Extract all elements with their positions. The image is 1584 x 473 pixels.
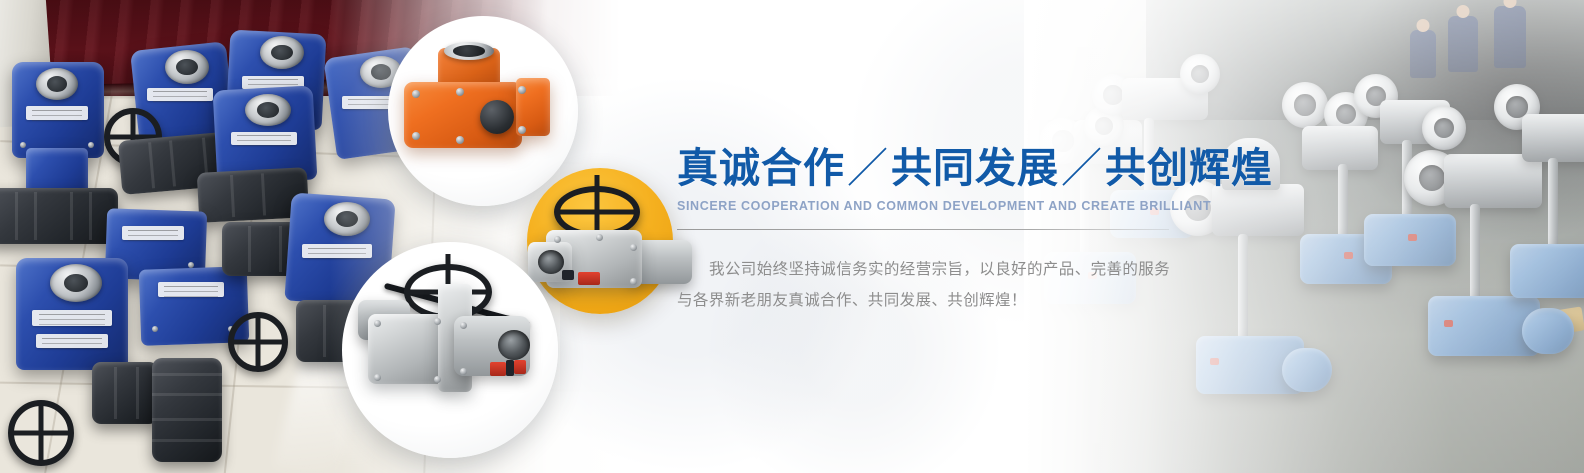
headline-part-2: 共同发展 (891, 145, 1059, 191)
orange-quarter-turn-actuator (388, 16, 578, 206)
headline-separator-1: ／ (845, 145, 891, 191)
banner-copy-block: 真诚合作／共同发展／共创辉煌 SINCERE COOPERATION AND C… (677, 146, 1197, 316)
pvc-ball-valve (92, 362, 158, 424)
headline-part-1: 真诚合作 (677, 145, 845, 191)
handwheel (228, 312, 288, 372)
headline-separator-2: ／ (1059, 145, 1105, 191)
inset-orange-actuator (388, 16, 578, 206)
body-copy-line-2: 与各界新老朋友真诚合作、共同发展、共创辉煌！ (677, 285, 1197, 316)
pvc-union-valve (152, 358, 222, 462)
handwheel (8, 400, 74, 466)
divider-rule (677, 229, 1169, 230)
subheadline: SINCERE COOPERATION AND COMMON DEVELOPME… (677, 199, 1197, 213)
gray-multiturn-actuator (342, 242, 558, 458)
promotional-banner: 真诚合作／共同发展／共创辉煌 SINCERE COOPERATION AND C… (0, 0, 1584, 473)
worker (1494, 6, 1526, 68)
headline-part-3: 共创辉煌 (1105, 145, 1273, 191)
body-copy-line-1: 我公司始终坚持诚信务实的经营宗旨，以良好的产品、完善的服务 (677, 254, 1197, 285)
headline: 真诚合作／共同发展／共创辉煌 (677, 146, 1197, 192)
worker (1448, 16, 1478, 72)
body-copy: 我公司始终坚持诚信务实的经营宗旨，以良好的产品、完善的服务 与各界新老朋友真诚合… (677, 254, 1197, 316)
worker (1410, 30, 1436, 78)
body-copy-line-1-text: 我公司始终坚持诚信务实的经营宗旨，以良好的产品、完善的服务 (709, 261, 1170, 278)
pvc-ball-valve (0, 188, 118, 244)
inset-gray-multiturn-actuator (342, 242, 558, 458)
